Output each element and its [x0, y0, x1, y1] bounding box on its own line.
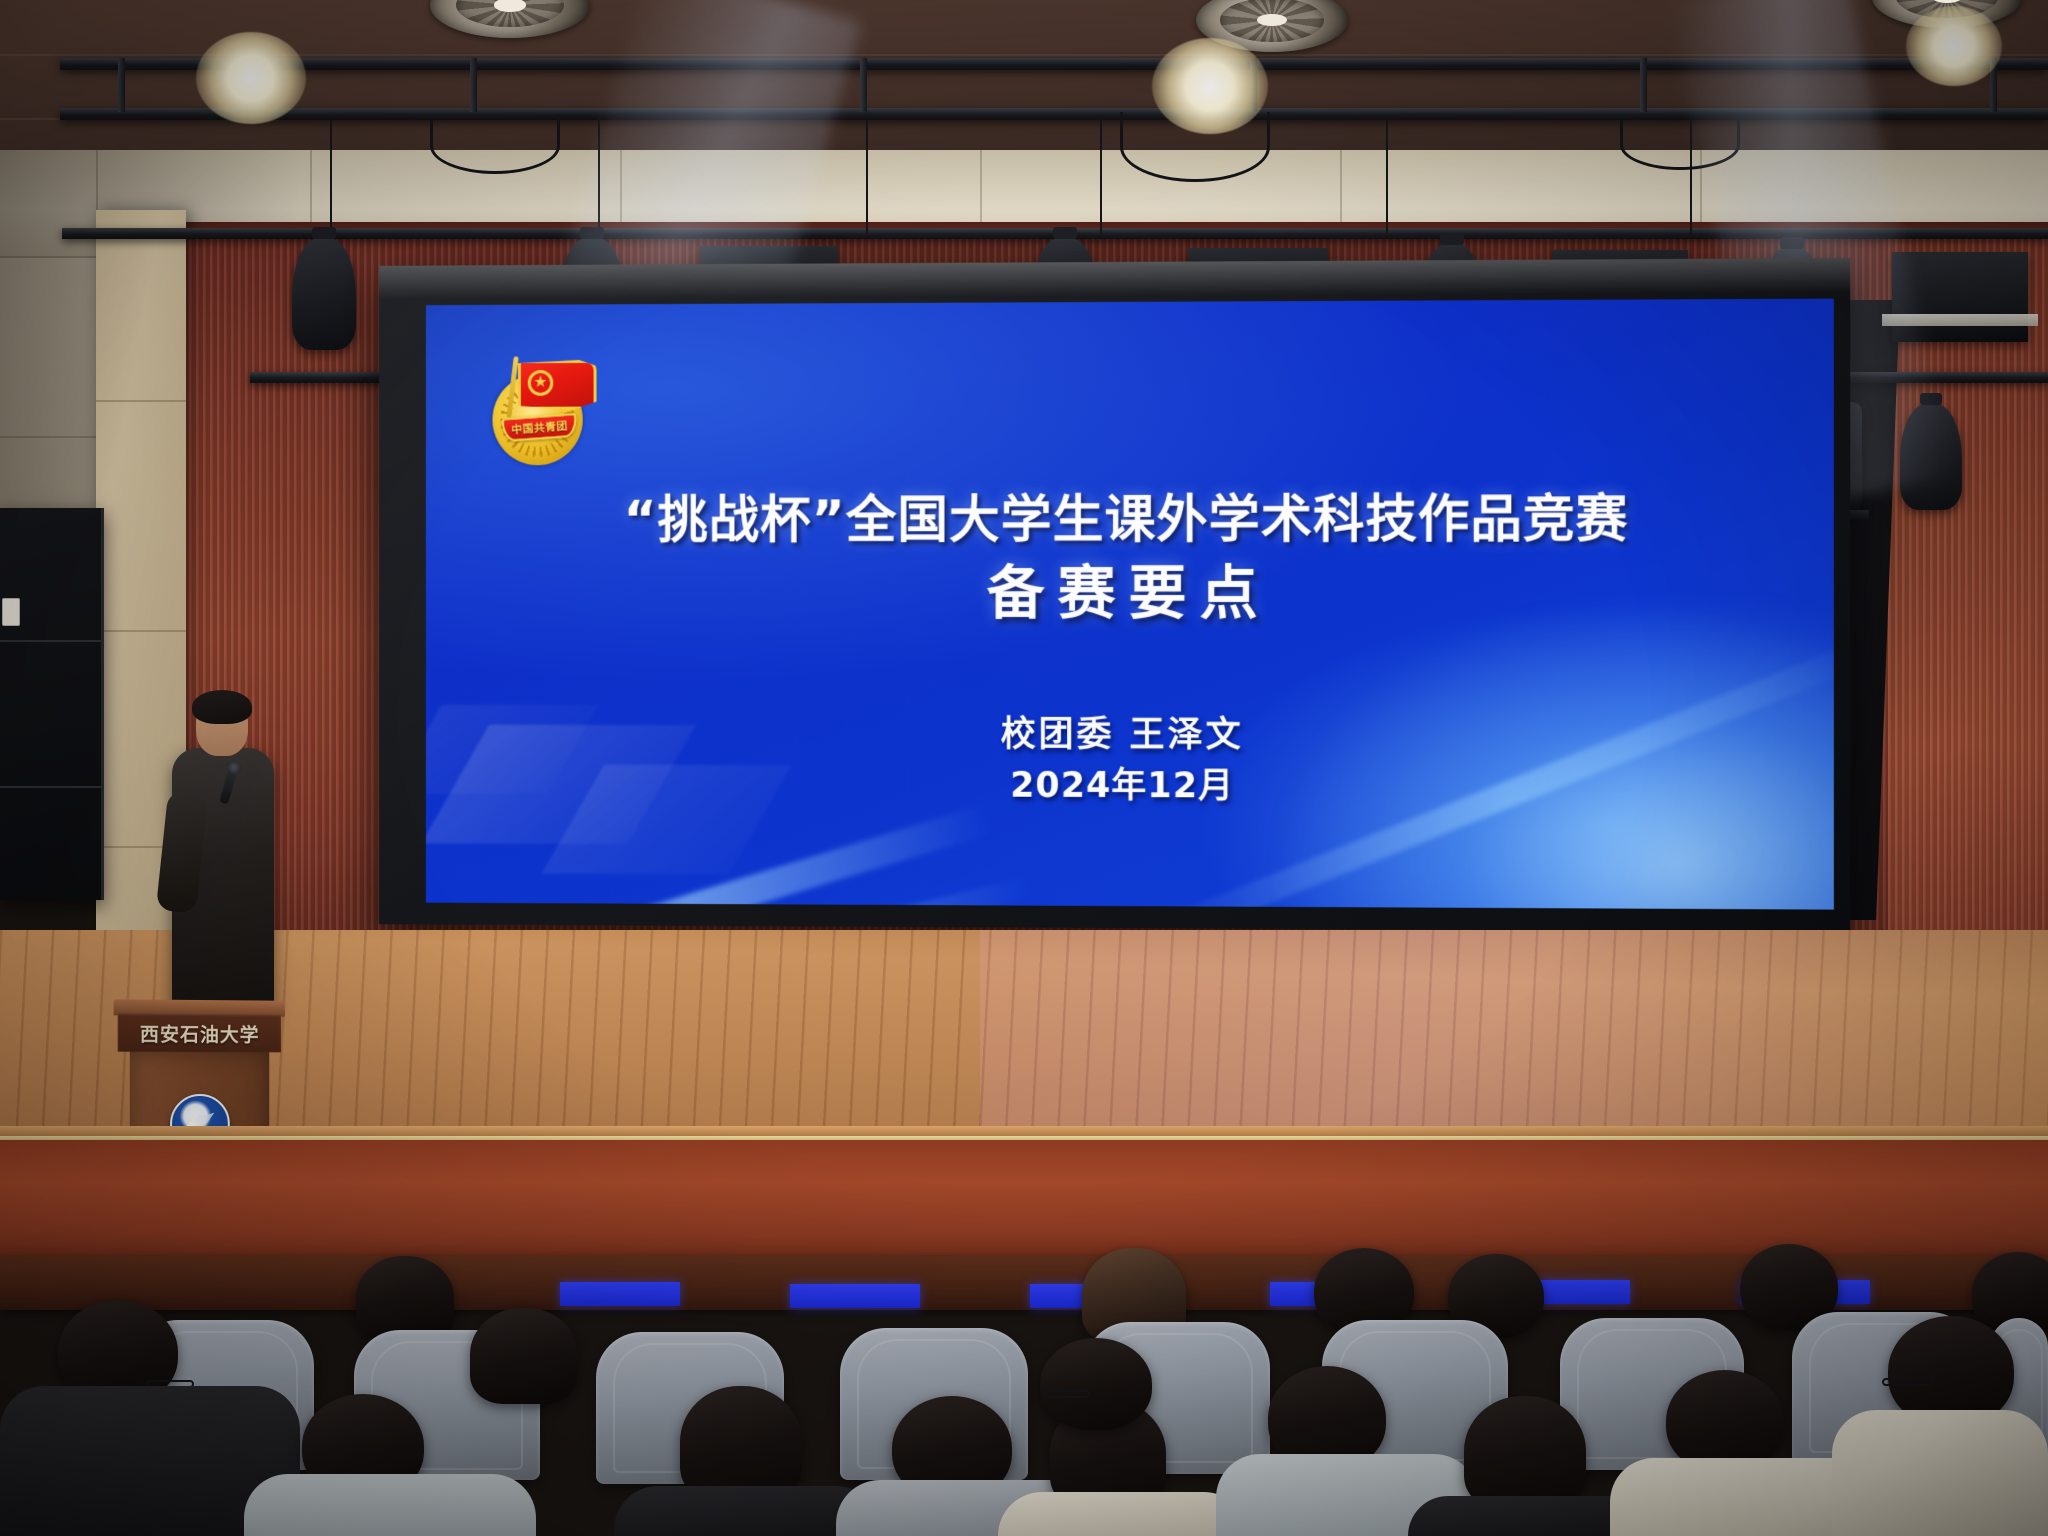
- auditorium-scene: ★ 中国共青团 “挑战杯”全国大学生课外学术科技作品竞赛 备赛要点 校团委 王泽…: [0, 0, 2048, 1536]
- slide-light-ribbon: [426, 806, 989, 910]
- podium-nameplate-text: 西安石油大学: [140, 1019, 260, 1047]
- slide-presenter: 校团委 王泽文: [426, 705, 1834, 759]
- audience-shoulders: [1832, 1410, 2048, 1536]
- side-display-panel: [0, 508, 104, 900]
- light-truss-upper: [60, 58, 2048, 70]
- audience-head: [1666, 1370, 1784, 1472]
- audience-head: [1464, 1396, 1586, 1510]
- communist-youth-league-emblem: ★ 中国共青团: [489, 356, 609, 465]
- truss-brace: [860, 58, 867, 112]
- power-cable: [1120, 112, 1270, 182]
- slide-date: 2024年12月: [426, 755, 1834, 810]
- podium-nameplate: 西安石油大学: [118, 1013, 281, 1052]
- eyeglasses: [1882, 1378, 1934, 1386]
- power-cable: [430, 118, 560, 174]
- ceiling-seam: [0, 54, 2048, 56]
- emblem-banner-text: 中国共青团: [511, 418, 568, 438]
- truss-lamp-bulb: [1906, 6, 2002, 86]
- desk-monitor: [790, 1284, 920, 1308]
- emblem-star-icon: ★: [528, 370, 554, 396]
- hanging-wire: [330, 118, 332, 234]
- presenter-person: [168, 686, 278, 1016]
- audience-shoulders: [244, 1474, 536, 1536]
- par-can-light: [292, 238, 356, 350]
- audience-head: [680, 1386, 802, 1502]
- hanging-wire: [1386, 118, 1388, 234]
- audience-head: [470, 1308, 578, 1404]
- slide-title: “挑战杯”全国大学生课外学术科技作品竞赛: [426, 477, 1834, 553]
- barndoor-light: [1892, 252, 2028, 342]
- hanging-wire: [866, 118, 868, 234]
- presenter-hair: [192, 690, 252, 724]
- light-truss-upper-2: [60, 108, 2048, 120]
- truss-brace: [1640, 58, 1647, 112]
- truss-brace: [118, 58, 125, 112]
- truss-brace: [470, 58, 477, 112]
- audience-shoulders: [998, 1492, 1248, 1536]
- audience-head: [1040, 1338, 1152, 1430]
- par-can-light: [1900, 404, 1962, 510]
- wall-switch-plate[interactable]: [2, 598, 20, 626]
- eyeglasses: [1044, 1390, 1090, 1398]
- screen-bezel-highlight: [379, 258, 1850, 299]
- slide-subtitle: 备赛要点: [426, 545, 1834, 630]
- truss-lamp-bulb: [196, 32, 306, 124]
- power-cable: [1620, 120, 1740, 170]
- led-screen-frame: ★ 中国共青团 “挑战杯”全国大学生课外学术科技作品竞赛 备赛要点 校团委 王泽…: [379, 258, 1850, 932]
- hanging-wire: [598, 118, 600, 234]
- presentation-slide[interactable]: ★ 中国共青团 “挑战杯”全国大学生课外学术科技作品竞赛 备赛要点 校团委 王泽…: [426, 299, 1834, 910]
- hanging-wire: [1100, 118, 1102, 234]
- desk-monitor: [560, 1282, 680, 1306]
- slide-light-ribbon: [490, 876, 1032, 909]
- emblem-star-glyph: ★: [533, 375, 547, 391]
- stage-front-panel: [0, 1140, 2048, 1260]
